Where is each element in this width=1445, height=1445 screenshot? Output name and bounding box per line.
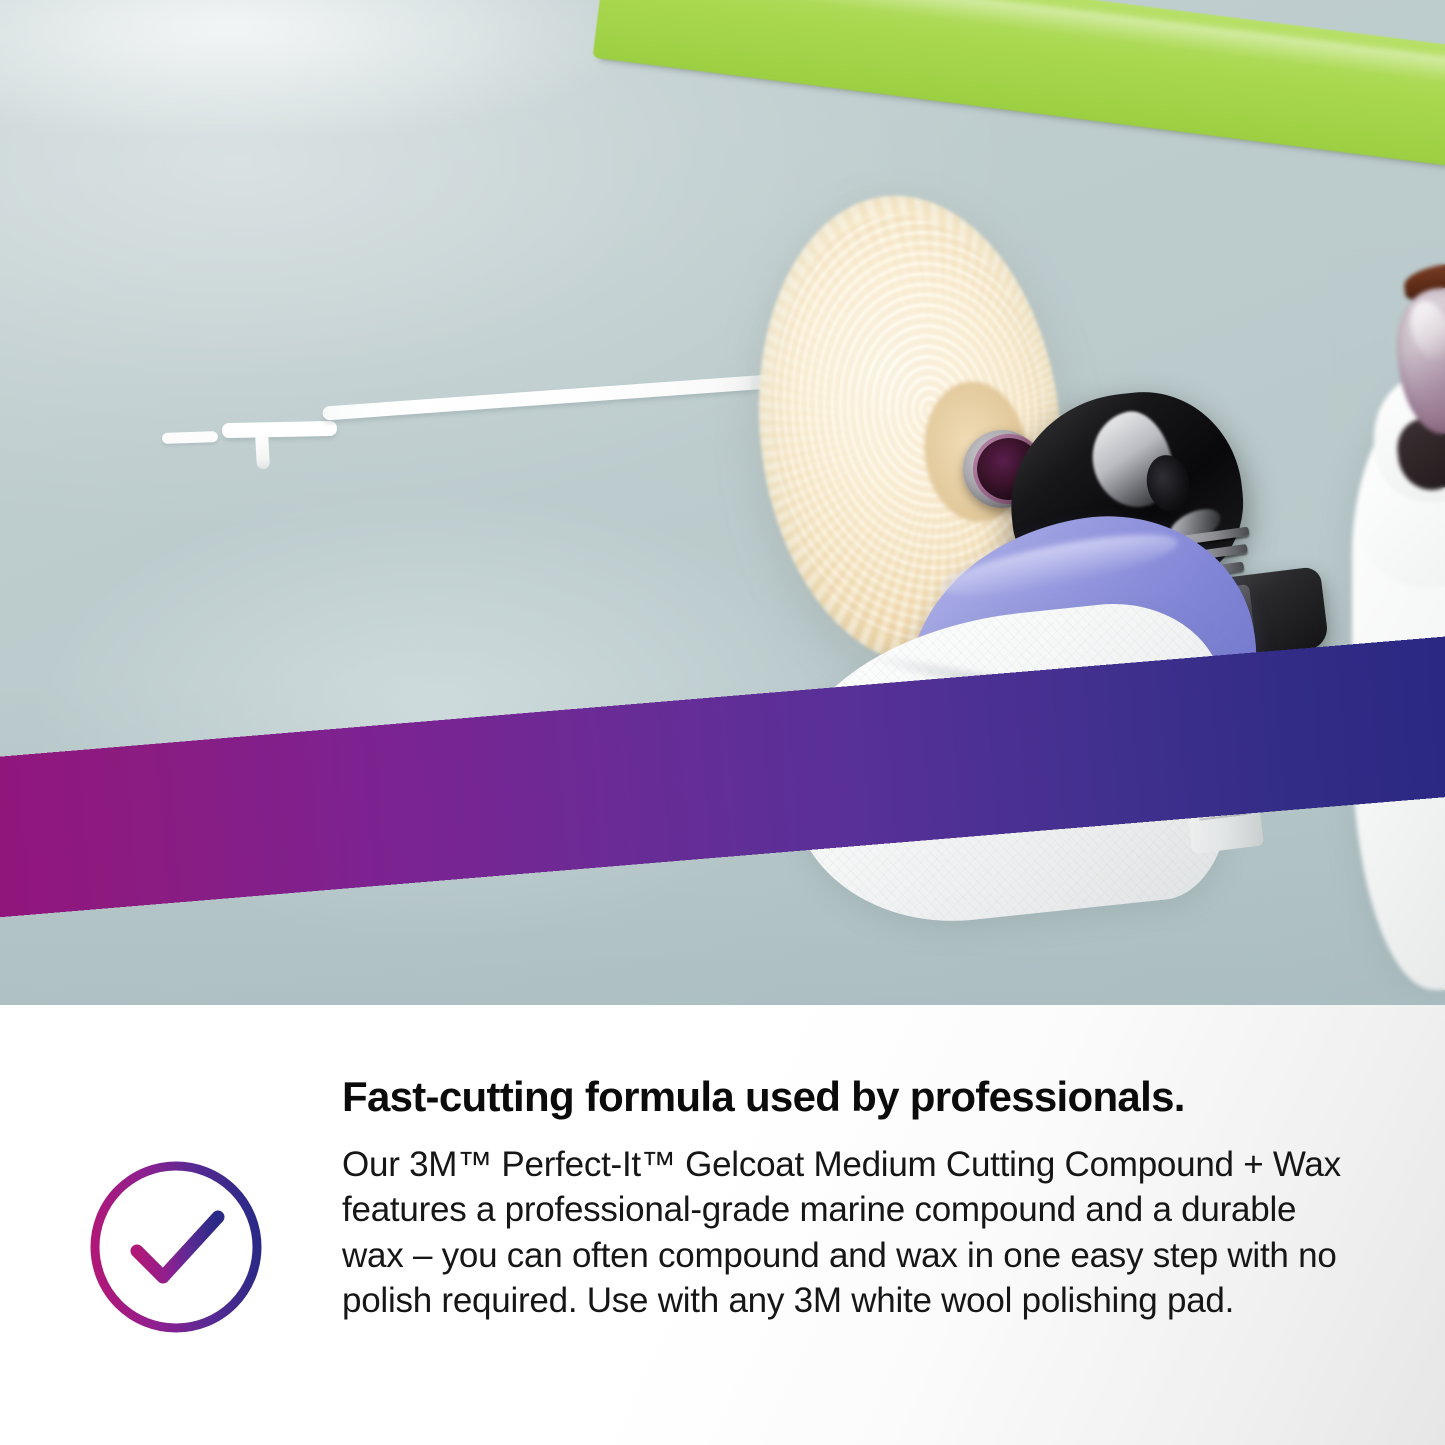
check-mark-path [137,1217,218,1277]
product-feature-card: Fast-cutting formula used by professiona… [0,0,1445,1445]
feature-copy-block: Fast-cutting formula used by professiona… [342,1075,1402,1324]
check-circle-ring [95,1166,257,1328]
depth-of-field-blur [1330,250,1445,1005]
check-circle-icon [86,1155,266,1339]
feature-body-text: Our 3M™ Perfect-It™ Gelcoat Medium Cutti… [342,1142,1352,1324]
wall-haze [0,0,650,130]
compound-bead-segment [222,421,337,438]
compound-bead-icon [162,431,218,444]
feature-headline: Fast-cutting formula used by professiona… [342,1075,1402,1120]
compound-drip [255,433,270,470]
